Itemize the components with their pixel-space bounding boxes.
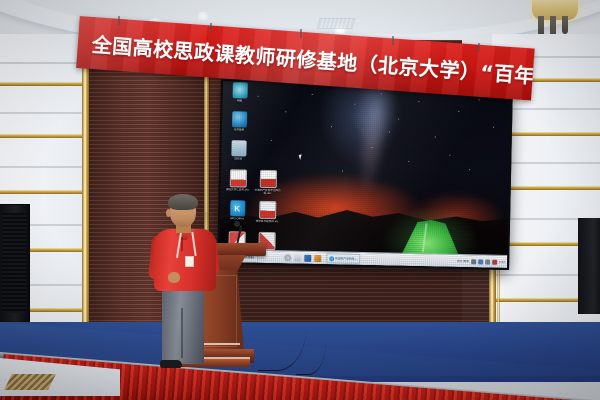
gold-trim-post: [82, 38, 89, 338]
ie-browser-icon: [231, 111, 246, 127]
folder-icon[interactable]: [314, 254, 321, 261]
desktop-icon-row: K WPS Office 研修班日程安排.xls: [224, 200, 285, 227]
hand: [168, 272, 180, 283]
tent-icon: [398, 215, 462, 256]
led-display-screen[interactable]: 网络 IE浏览器 回收站: [217, 79, 513, 270]
desktop-icon-row: 回收站: [225, 140, 285, 165]
desktop-icon-xls[interactable]: 研修班日程安排.xls: [254, 201, 281, 228]
app-icon: [329, 256, 334, 261]
system-tray[interactable]: 中文 简体 9:42: [457, 258, 505, 264]
recycle-bin-icon: [231, 140, 246, 156]
desktop-icon-ie[interactable]: IE浏览器: [226, 111, 252, 136]
desktop-icon-doc2[interactable]: 中国共产党百年光辉历程.doc: [255, 170, 282, 197]
explorer-icon[interactable]: [304, 254, 311, 261]
network-icon: [232, 82, 247, 98]
ceiling-downlight: [196, 12, 210, 20]
desktop-icon-label: 网络: [226, 99, 252, 107]
tray-clock[interactable]: 9:42: [499, 260, 505, 264]
desktop-icon-recycle-bin[interactable]: 回收站: [225, 140, 251, 165]
lecture-hall-photo: 网络 IE浏览器 回收站: [0, 0, 600, 400]
banner-tie: [118, 16, 120, 25]
desktop-icon-grid[interactable]: 网络 IE浏览器 回收站: [222, 82, 286, 268]
shield-icon[interactable]: [485, 259, 490, 264]
banner-tie: [392, 36, 394, 45]
taskbar-window-button[interactable]: 中国共产党百年...: [326, 253, 360, 264]
leg-seam: [181, 308, 183, 358]
windows-desktop[interactable]: 网络 IE浏览器 回收站: [219, 81, 511, 268]
ac-vent-icon: [316, 18, 355, 29]
desktop-icon-label: 中国共产党百年光辉历程.doc: [255, 189, 281, 197]
tent-seam: [422, 223, 428, 252]
floor-mat: [4, 374, 56, 390]
shirt-placket: [181, 237, 183, 251]
wps-office-icon: K: [230, 200, 245, 216]
word-document-icon: [259, 170, 276, 188]
pa-loudspeaker-left: [0, 204, 30, 336]
excel-spreadsheet-icon: [259, 201, 276, 219]
name-badge: [185, 256, 194, 267]
chandelier-drop: [562, 16, 568, 34]
shoe: [160, 360, 182, 368]
pa-loudspeaker-right: [578, 218, 600, 314]
search-icon[interactable]: [284, 254, 291, 261]
taskbar-quick-launch[interactable]: [284, 254, 321, 262]
desktop-icon-label: 研修班日程安排.xls: [254, 220, 280, 228]
desktop-icon-row: 网络: [226, 82, 286, 107]
desktop-icon-row: IE浏览器: [226, 111, 286, 136]
network-tray-icon[interactable]: [478, 259, 483, 264]
desktop-icon-net[interactable]: 网络: [226, 82, 252, 107]
desktop-icon-doc1[interactable]: 课程文件汇总表.doc: [225, 169, 252, 196]
task-view-icon[interactable]: [294, 254, 301, 261]
taskbar-window-label: 中国共产党百年...: [335, 256, 357, 260]
microphone-icon: [234, 221, 240, 227]
speaker-grille: [2, 213, 26, 313]
desktop-icon-row: 课程文件汇总表.doc 中国共产党百年光辉历程.doc: [225, 169, 286, 196]
banner-tie: [478, 43, 480, 52]
tray-ime-label[interactable]: 中文 简体: [457, 259, 469, 263]
banner-tie: [300, 29, 302, 38]
trousers: [162, 288, 204, 364]
volume-icon[interactable]: [471, 259, 476, 264]
speaker-person: [148, 196, 222, 368]
desktop-icon-label: 课程文件汇总表.doc: [225, 188, 251, 196]
desktop-icon-label: IE浏览器: [226, 128, 252, 136]
hair: [168, 194, 198, 210]
face-shadow: [194, 212, 214, 225]
taskbar-windows[interactable]: 中国共产党百年...: [326, 253, 360, 264]
banner-tie: [210, 23, 212, 32]
antivirus-icon[interactable]: [492, 259, 497, 264]
ear: [166, 209, 171, 217]
word-document-icon: [229, 169, 246, 187]
desktop-icon-label: 回收站: [225, 157, 251, 165]
